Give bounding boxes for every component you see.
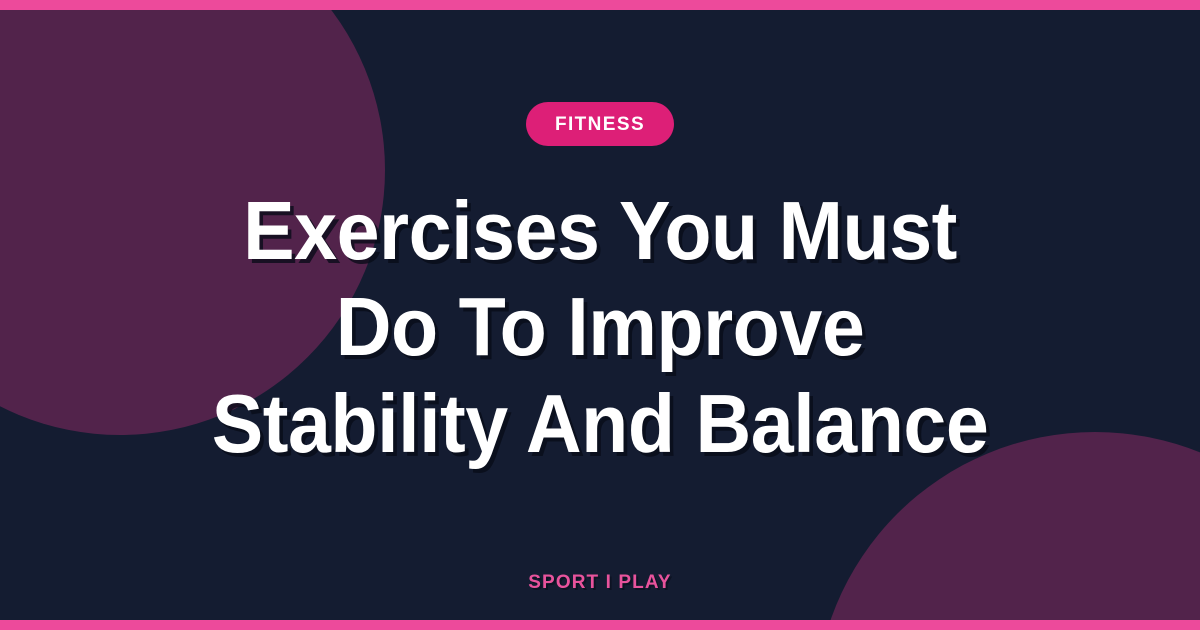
accent-bar-top xyxy=(0,0,1200,10)
accent-bar-bottom xyxy=(0,620,1200,630)
site-branding: SPORT I PLAY xyxy=(0,572,1200,594)
headline-line-1: Exercises You Must xyxy=(83,183,1117,279)
social-share-card: FITNESS Exercises You Must Do To Improve… xyxy=(0,0,1200,630)
card-content: FITNESS Exercises You Must Do To Improve… xyxy=(0,0,1200,630)
headline-line-2: Do To Improve xyxy=(83,279,1117,375)
page-title: Exercises You Must Do To Improve Stabili… xyxy=(42,183,1158,472)
category-badge[interactable]: FITNESS xyxy=(526,102,674,146)
headline-line-3: Stability And Balance xyxy=(83,376,1117,472)
